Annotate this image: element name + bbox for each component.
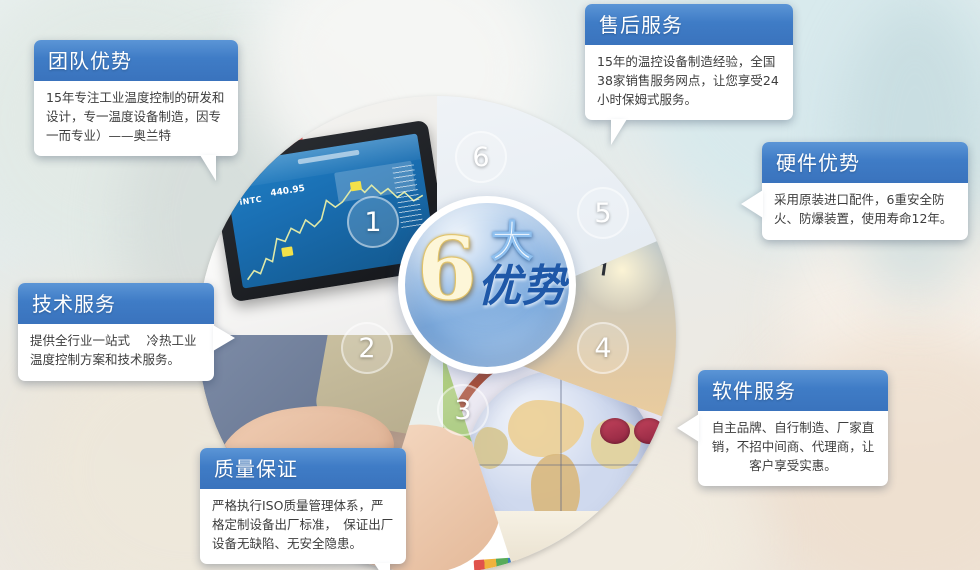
callout-body: 15年专注工业温度控制的研发和设计，专一温度设备制造，因专一而专业）——奥兰特 bbox=[34, 81, 238, 156]
badge-4[interactable]: 4 bbox=[577, 322, 629, 374]
callout-title: 售后服务 bbox=[585, 4, 793, 45]
callout-title: 硬件优势 bbox=[762, 142, 968, 183]
callout-body: 采用原装进口配件，6重安全防火、防爆装置，使用寿命12年。 bbox=[762, 183, 968, 240]
callout-body: 自主品牌、自行制造、厂家直销，不招中间商、代理商，让客户享受实惠。 bbox=[698, 411, 888, 486]
callout-body: 提供全行业一站式 冷热工业温度控制方案和技术服务。 bbox=[18, 324, 214, 381]
callout-hardware-advantage[interactable]: 硬件优势 采用原装进口配件，6重安全防火、防爆装置，使用寿命12年。 bbox=[762, 142, 968, 240]
badge-6[interactable]: 6 bbox=[455, 131, 507, 183]
callout-tail bbox=[611, 119, 627, 145]
center-advantage-text: 优势 bbox=[477, 265, 567, 309]
badge-1[interactable]: 1 bbox=[347, 196, 399, 248]
callout-body: 严格执行ISO质量管理体系，严格定制设备出厂标准， 保证出厂设备无缺陷、无安全隐… bbox=[200, 489, 406, 564]
callout-quality-assurance[interactable]: 质量保证 严格执行ISO质量管理体系，严格定制设备出厂标准， 保证出厂设备无缺陷… bbox=[200, 448, 406, 564]
callout-after-sales[interactable]: 售后服务 15年的温控设备制造经验，全国38家销售服务网点，让您享受24小时保姆… bbox=[585, 4, 793, 120]
callout-tail bbox=[200, 155, 216, 181]
chart-marker bbox=[350, 181, 362, 192]
center-number: 6 bbox=[417, 227, 477, 313]
callout-technical-service[interactable]: 技术服务 提供全行业一站式 冷热工业温度控制方案和技术服务。 bbox=[18, 283, 214, 381]
callout-tail bbox=[741, 190, 763, 218]
red-glasses bbox=[600, 418, 672, 448]
callout-tail bbox=[677, 414, 699, 442]
badge-2[interactable]: 2 bbox=[341, 322, 393, 374]
center-big-char: 大 bbox=[491, 221, 533, 263]
callout-software-service[interactable]: 软件服务 自主品牌、自行制造、厂家直销，不招中间商、代理商，让客户享受实惠。 bbox=[698, 370, 888, 486]
callout-tail bbox=[374, 563, 390, 570]
callout-title: 质量保证 bbox=[200, 448, 406, 489]
center-emblem: 6 大 优势 bbox=[405, 203, 569, 367]
callout-tail bbox=[213, 325, 235, 351]
badge-3[interactable]: 3 bbox=[437, 384, 489, 436]
callout-team-advantage[interactable]: 团队优势 15年专注工业温度控制的研发和设计，专一温度设备制造，因专一而专业）—… bbox=[34, 40, 238, 156]
callout-body: 15年的温控设备制造经验，全国38家销售服务网点，让您享受24小时保姆式服务。 bbox=[585, 45, 793, 120]
callout-title: 技术服务 bbox=[18, 283, 214, 324]
callout-title: 团队优势 bbox=[34, 40, 238, 81]
infographic-canvas: iNTC 440.95 bbox=[0, 0, 980, 570]
badge-5[interactable]: 5 bbox=[577, 187, 629, 239]
chart-marker bbox=[281, 246, 293, 257]
callout-title: 软件服务 bbox=[698, 370, 888, 411]
